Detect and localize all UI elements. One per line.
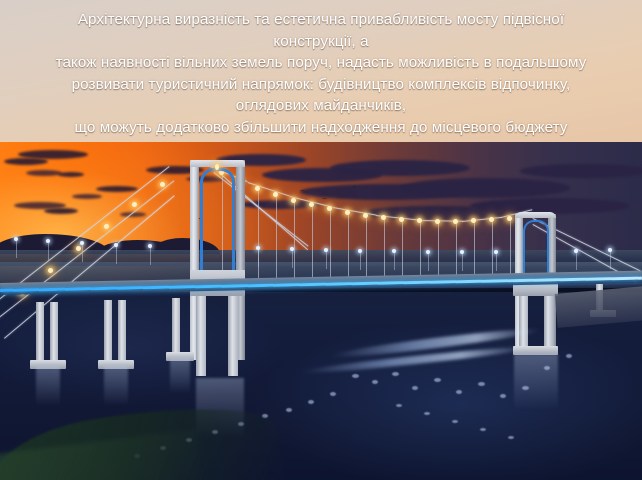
- deck-lamp-post: [394, 252, 395, 270]
- hanger-cable: [312, 204, 313, 284]
- lamp-reflection: [330, 392, 336, 396]
- cable-lamp: [489, 217, 494, 222]
- caption-line-4: розвивати туристичний напрямок: будівниц…: [6, 74, 636, 96]
- bridge-photo: [0, 142, 642, 480]
- hanger-cable: [276, 194, 277, 284]
- cloud: [26, 170, 62, 176]
- cloud: [72, 194, 102, 199]
- tower-crossbeam: [515, 212, 556, 218]
- cable-lamp: [255, 186, 260, 191]
- tower-arch-accent: [200, 168, 235, 275]
- lamp-reflection: [500, 394, 506, 398]
- pier-reflection: [170, 358, 190, 394]
- cable-lamp: [132, 202, 137, 207]
- cable-lamp: [48, 268, 53, 273]
- cloud: [520, 164, 642, 178]
- cable-lamp: [291, 198, 296, 203]
- lamp-reflection: [480, 428, 486, 431]
- hanger-cable: [258, 188, 259, 284]
- cable-lamp: [471, 218, 476, 223]
- deck-lamp: [46, 239, 50, 243]
- caption-line-3: також наявності вільних земель поруч, на…: [6, 52, 636, 74]
- lamp-reflection: [308, 400, 314, 404]
- deck-lamp-post: [496, 253, 497, 271]
- lamp-reflection: [566, 354, 572, 358]
- bird: [352, 186, 357, 189]
- approach-pier: [118, 300, 126, 364]
- pier-reflection: [36, 366, 60, 406]
- cable-lamp: [76, 246, 81, 251]
- deck-lamp-post: [326, 251, 327, 269]
- deck-lamp-post: [428, 253, 429, 271]
- deck-lamp: [426, 250, 430, 254]
- deck-lamp-post: [82, 244, 83, 262]
- cable-lamp: [507, 216, 512, 221]
- presentation-slide: Архітектурна виразність та естетична при…: [0, 0, 642, 480]
- deck-lamp: [80, 241, 84, 245]
- caption-line-6: що можуть додатково збільшити надходженн…: [6, 117, 636, 139]
- lamp-reflection: [412, 386, 418, 390]
- lamp-reflection: [352, 374, 359, 378]
- cloud: [400, 178, 570, 198]
- caption-line-1: Архітектурна виразність та естетична при…: [6, 9, 636, 31]
- deck-lamp: [392, 249, 396, 253]
- cable-lamp: [435, 219, 440, 224]
- hanger-cable: [384, 217, 385, 284]
- cable-lamp: [160, 182, 165, 187]
- approach-pier: [36, 302, 44, 364]
- approach-pier: [50, 302, 58, 364]
- deck-lamp: [256, 246, 260, 250]
- cable-lamp: [381, 215, 386, 220]
- lamp-reflection: [522, 386, 529, 390]
- cloud: [44, 208, 78, 214]
- caption-line-2: конструкції, а: [6, 31, 636, 53]
- deck-lamp: [324, 248, 328, 252]
- deck-lamp: [148, 244, 152, 248]
- cable-lamp: [273, 192, 278, 197]
- deck-lamp-post: [292, 250, 293, 268]
- deck-lamp-post: [150, 247, 151, 265]
- deck-lamp: [494, 250, 498, 254]
- lamp-reflection: [452, 420, 458, 423]
- lamp-reflection: [456, 390, 462, 394]
- tower-pier: [519, 292, 528, 350]
- deck-lamp-post: [16, 240, 17, 258]
- tower-pier: [228, 292, 238, 376]
- deck-lamp-post: [576, 252, 577, 270]
- tower-reflection: [514, 354, 558, 410]
- deck-lamp: [14, 237, 18, 241]
- deck-lamp: [460, 250, 464, 254]
- cable-lamp: [453, 219, 458, 224]
- approach-pier: [104, 300, 112, 364]
- cable-lamp: [104, 224, 109, 229]
- bird: [322, 198, 327, 201]
- deck-lamp: [574, 249, 578, 253]
- bird: [300, 190, 305, 193]
- cloud: [330, 160, 470, 176]
- cable-lamp: [399, 217, 404, 222]
- cloud: [4, 158, 48, 165]
- hanger-cable: [366, 215, 367, 284]
- hanger-cable: [330, 208, 331, 284]
- cable-lamp: [327, 206, 332, 211]
- cable-lamp: [417, 218, 422, 223]
- cable-lamp: [345, 210, 350, 215]
- approach-pier: [172, 298, 180, 356]
- tower-pier: [196, 292, 206, 376]
- tower-pier: [544, 292, 553, 350]
- deck-lamp: [290, 247, 294, 251]
- pier-reflection: [104, 366, 128, 406]
- lamp-reflection: [286, 408, 292, 412]
- right-embankment: [555, 286, 642, 328]
- cable-lamp: [309, 202, 314, 207]
- deck-lamp: [358, 249, 362, 253]
- tower-beacon-lamp: [215, 164, 219, 170]
- deck-lamp-post: [258, 249, 259, 267]
- lamp-reflection: [544, 366, 550, 370]
- lamp-reflection: [372, 380, 378, 384]
- hanger-cable: [348, 212, 349, 284]
- lamp-reflection: [478, 382, 485, 386]
- tower-arch-accent: [523, 220, 549, 280]
- cloud: [58, 172, 84, 177]
- deck-lamp-post: [610, 251, 611, 269]
- lamp-reflection: [508, 436, 514, 439]
- deck-lamp: [608, 248, 612, 252]
- deck-lamp: [114, 243, 118, 247]
- lamp-reflection: [396, 404, 402, 407]
- cable-lamp: [363, 213, 368, 218]
- lamp-reflection: [424, 412, 430, 415]
- deck-lamp-post: [116, 246, 117, 264]
- slide-caption: Архітектурна виразність та естетична при…: [0, 0, 642, 146]
- deck-lamp-post: [48, 242, 49, 260]
- hanger-cable: [294, 200, 295, 284]
- lamp-reflection: [392, 372, 399, 376]
- deck-lamp-post: [462, 253, 463, 271]
- cloud: [96, 186, 138, 192]
- lamp-reflection: [434, 378, 441, 382]
- deck-lamp-post: [360, 252, 361, 270]
- caption-line-5: оглядових майданчиків,: [6, 95, 636, 117]
